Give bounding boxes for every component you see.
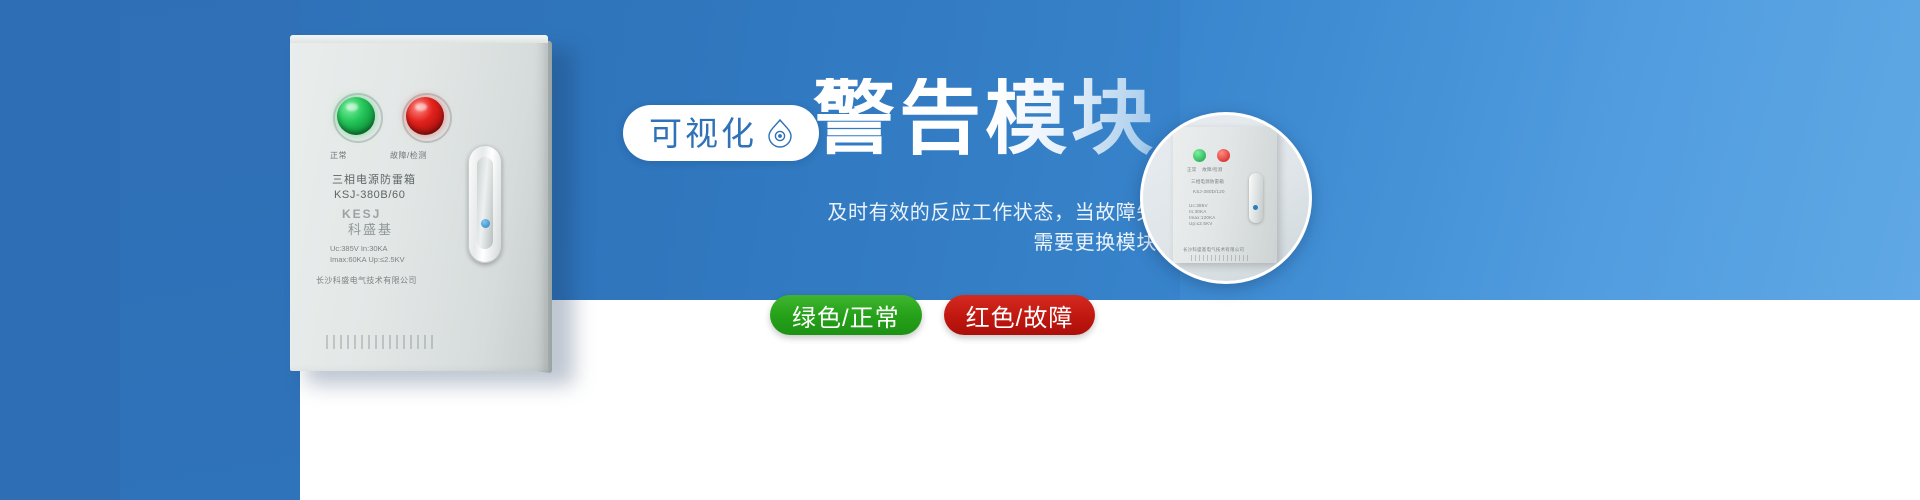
inset-brand-latin: KESJ: [1149, 121, 1164, 127]
status-badge-normal[interactable]: 绿色/正常: [770, 295, 922, 335]
inset-brand-cn: 科盛基: [1149, 128, 1166, 135]
door-handle: [468, 145, 502, 263]
product-spec-line-2: Imax:60KA Up:≤2.5KV: [330, 254, 405, 265]
manufacturer-label: 长沙科盛电气技术有限公司: [316, 275, 417, 286]
inset-green-indicator-lamp: [1193, 149, 1206, 162]
product-specs: Uc:385V In:30KA Imax:60KA Up:≤2.5KV: [330, 243, 405, 265]
product-enclosure: 正常 故障/检测 三相电源防雷箱 KSJ-380B/60 KESJ 科盛基 Uc…: [290, 35, 548, 371]
banner-background-left-edge: [0, 0, 120, 500]
diamond-eye-icon: [767, 118, 793, 148]
inset-vent-slots: [1191, 255, 1249, 261]
status-badge-group: 绿色/正常 红色/故障: [770, 295, 1095, 335]
promo-banner: 正常 故障/检测 三相电源防雷箱 KSJ-380B/60 KESJ 科盛基 Uc…: [0, 0, 1920, 500]
visualization-pill: 可视化: [623, 105, 819, 161]
brand-cn-label: 科盛基: [348, 219, 393, 238]
banner-background-highlight: [1320, 0, 1920, 300]
product-photo-main: 正常 故障/检测 三相电源防雷箱 KSJ-380B/60 KESJ 科盛基 Uc…: [290, 35, 560, 375]
green-lamp-label: 正常: [330, 150, 347, 161]
inset-door-handle: [1249, 173, 1263, 223]
vent-slots: [326, 335, 436, 349]
inset-product-name: 三相电源防雷箱: [1191, 179, 1224, 185]
red-lamp-label: 故障/检测: [390, 150, 427, 161]
inset-manufacturer-label: 长沙科盛基电气技术有限公司: [1183, 247, 1244, 253]
green-indicator-lamp: [337, 97, 375, 135]
door-handle-inner: [477, 157, 493, 249]
inset-red-indicator-lamp: [1217, 149, 1230, 162]
product-spec-line-1: Uc:385V In:30KA: [330, 243, 405, 254]
inset-enclosure: 正常 故障/检测 三相电源防雷箱 KSJ-380D/120 Uc:385V In…: [1173, 127, 1277, 263]
product-model-label: KSJ-380B/60: [334, 189, 405, 201]
product-name-label: 三相电源防雷箱: [332, 171, 416, 187]
banner-title: 警告模块: [813, 78, 1157, 160]
status-badge-fault[interactable]: 红色/故障: [944, 295, 1096, 335]
product-photo-inset: KESJ 科盛基 正常 故障/检测 三相电源防雷箱 KSJ-380D/120 U…: [1140, 112, 1312, 284]
inset-red-lamp-label: 故障/检测: [1202, 167, 1222, 172]
door-lock-icon: [481, 219, 490, 228]
inset-lamp-labels: 正常 故障/检测: [1187, 167, 1222, 173]
inset-product-specs: Uc:385V In:30KA Imax:120KA Up:≤2.5KV: [1189, 203, 1216, 227]
inset-product-model: KSJ-380D/120: [1193, 189, 1225, 194]
red-indicator-lamp: [406, 97, 444, 135]
visualization-pill-label: 可视化: [649, 117, 757, 150]
inset-green-lamp-label: 正常: [1187, 167, 1196, 172]
inset-door-lock-icon: [1253, 205, 1258, 210]
